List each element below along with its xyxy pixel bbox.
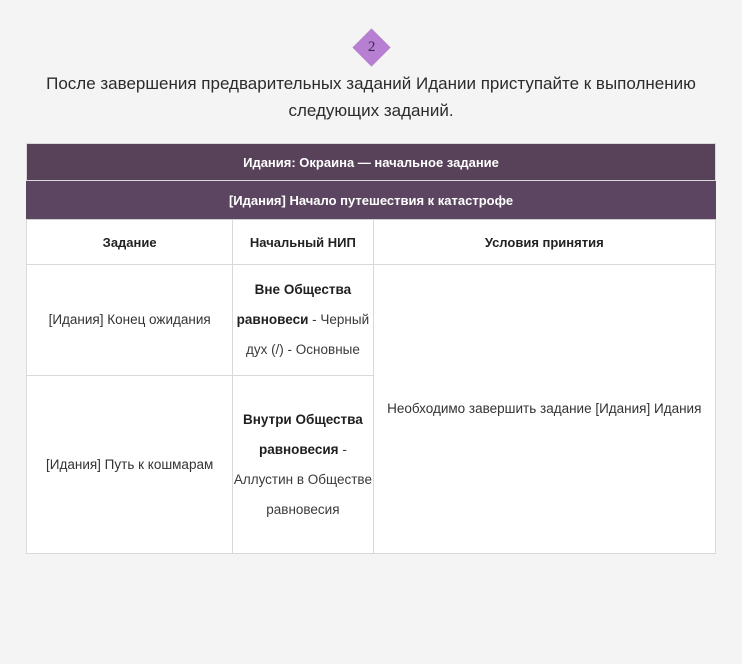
column-header-quest: Задание <box>27 220 233 265</box>
table-row: [Идания] Конец ожидания Вне Общества рав… <box>27 265 716 376</box>
column-header-conditions: Условия принятия <box>373 220 716 265</box>
page-root: 2 После завершения предварительных задан… <box>0 0 742 664</box>
table-banner-primary: Идания: Окраина — начальное задание <box>27 144 716 181</box>
npc-cell-1: Вне Общества равновеси - Черный дух (/) … <box>233 265 373 376</box>
npc-cell-2: Внутри Общества равновесия - Аллустин в … <box>233 376 373 554</box>
quest-table: Идания: Окраина — начальное задание [Ида… <box>26 143 716 554</box>
quest-name-1: [Идания] Конец ожидания <box>27 265 233 376</box>
column-header-npc: Начальный НИП <box>233 220 373 265</box>
table-banner-row-primary: Идания: Окраина — начальное задание <box>27 144 716 181</box>
quest-name-2: [Идания] Путь к кошмарам <box>27 376 233 554</box>
accept-condition-cell: Необходимо завершить задание [Идания] Ид… <box>373 265 716 554</box>
table-header-row: Задание Начальный НИП Условия принятия <box>27 220 716 265</box>
intro-paragraph: После завершения предварительных заданий… <box>35 70 707 124</box>
table-banner-row-secondary: [Идания] Начало путешествия к катастрофе <box>27 181 716 220</box>
table-banner-secondary: [Идания] Начало путешествия к катастрофе <box>27 181 716 220</box>
diamond-step-marker-icon: 2 <box>352 28 390 66</box>
step-number: 2 <box>367 40 375 55</box>
step-badge: 2 <box>0 27 742 67</box>
